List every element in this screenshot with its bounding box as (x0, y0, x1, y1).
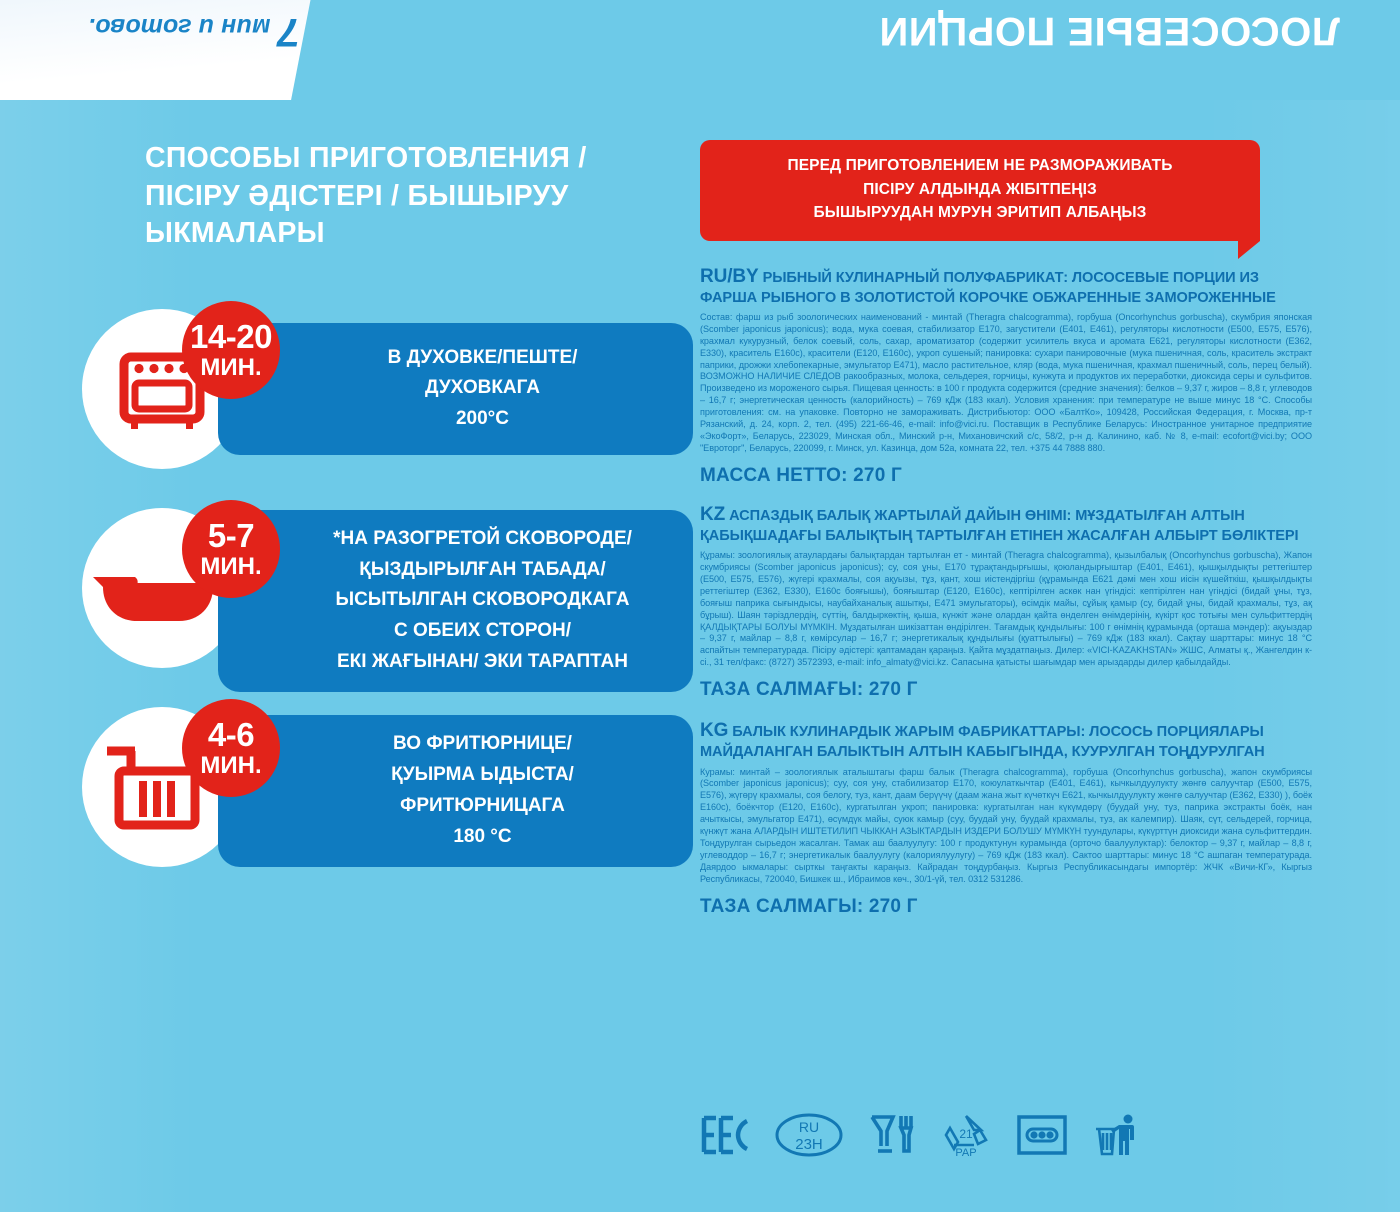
eac-mark-icon (700, 1115, 750, 1160)
package-back-panel: 7 мин и готово. ЛОСОСЕВЫЕ ПОРЦИИ СПОСОБЫ… (0, 0, 1400, 1212)
cooking-time-unit: МИН. (200, 555, 261, 579)
cooking-time-value: 5-7 (208, 519, 254, 552)
cooking-methods-section: СПОСОБЫ ПРИГОТОВЛЕНИЯ / ПІСІРУ ӘДІСТЕРІ … (60, 140, 700, 884)
cooking-method-text-deep-fryer: ВО ФРИТЮРНИЦЕ/ ҚУЫРМА ЫДЫСТА/ ФРИТЮРНИЦА… (218, 715, 693, 867)
cooking-method-pan: 5-7 МИН. *НА РАЗОГРЕТОЙ СКОВОРОДЕ/ ҚЫЗДЫ… (60, 500, 700, 685)
cooking-method-text-oven: В ДУХОВКЕ/ПЕШТЕ/ ДУХОВКАГА 200°C (218, 323, 693, 455)
cooking-time-badge: 5-7 МИН. (182, 500, 280, 598)
product-name-kz: АСПАЗДЫҚ БАЛЫҚ ЖАРТЫЛАЙ ДАЙЫН ӨНІМІ: МҰЗ… (700, 508, 1299, 544)
product-heading-ru: RU/BY РЫБНЫЙ КУЛИНАРНЫЙ ПОЛУФАБРИКАТ: ЛО… (700, 265, 1312, 307)
net-weight-kz: ТАЗА САЛМАҒЫ: 270 Г (700, 679, 1312, 701)
flap-left-slogan: 7 мин и готово. (64, 12, 324, 52)
cooking-time-unit: МИН. (200, 356, 261, 380)
panel-body: СПОСОБЫ ПРИГОТОВЛЕНИЯ / ПІСІРУ ӘДІСТЕРІ … (0, 100, 1400, 1212)
cooking-method-text-pan: *НА РАЗОГРЕТОЙ СКОВОРОДЕ/ ҚЫЗДЫРЫЛҒАН ТА… (218, 510, 693, 692)
ingredients-text-ru: Состав: фарш из рыб зоологических наимен… (700, 312, 1312, 455)
cooking-time-value: 14-20 (190, 320, 272, 353)
ingredients-text-kg: Курамы: минтай – зоологиялык аталыштагы … (700, 767, 1312, 886)
ingredients-text-kz: Құрамы: зоологиялық атаулардағы балықтар… (700, 550, 1312, 669)
net-weight-ru: МАССА НЕТТО: 270 Г (700, 465, 1312, 487)
language-code-kz: KZ (700, 504, 725, 525)
cooking-methods-title-line2: ПІСІРУ ӘДІСТЕРІ / БЫШЫРУУ ЫКМАЛАРЫ (145, 178, 700, 253)
product-name-kg: БАЛЫК КУЛИНАРДЫК ЖАРЫМ ФАБРИКАТТАРЫ: ЛОС… (700, 724, 1265, 760)
product-heading-kg: KG БАЛЫК КУЛИНАРДЫК ЖАРЫМ ФАБРИКАТТАРЫ: … (700, 719, 1312, 761)
product-heading-kz: KZ АСПАЗДЫҚ БАЛЫҚ ЖАРТЫЛАЙ ДАЙЫН ӨНІМІ: … (700, 503, 1312, 545)
cooking-time-unit: МИН. (200, 754, 261, 778)
top-flap-right: ЛОСОСЕВЫЕ ПОРЦИИ (360, 0, 1400, 108)
cooking-methods-title: СПОСОБЫ ПРИГОТОВЛЕНИЯ / ПІСІРУ ӘДІСТЕРІ … (60, 140, 700, 253)
keep-clean-bin-icon (1092, 1113, 1140, 1162)
language-block-kg: KG БАЛЫК КУЛИНАРДЫК ЖАРЫМ ФАБРИКАТТАРЫ: … (700, 719, 1312, 917)
net-weight-kg: ТАЗА САЛМАГЫ: 270 Г (700, 896, 1312, 918)
cooking-method-deep-fryer: 4-6 МИН. ВО ФРИТЮРНИЦЕ/ ҚУЫРМА ЫДЫСТА/ Ф… (60, 699, 700, 884)
language-code-kg: KG (700, 720, 728, 741)
product-name-ru: РЫБНЫЙ КУЛИНАРНЫЙ ПОЛУФАБРИКАТ: ЛОСОСЕВЫ… (700, 270, 1276, 306)
language-block-ru-by: RU/BY РЫБНЫЙ КУЛИНАРНЫЙ ПОЛУФАБРИКАТ: ЛО… (700, 265, 1312, 487)
pap-21-recycling-icon: 21 PAP (940, 1112, 992, 1163)
cooking-methods-title-line1: СПОСОБЫ ПРИГОТОВЛЕНИЯ / (145, 140, 700, 178)
cooking-method-oven: 14-20 МИН. В ДУХОВКЕ/ПЕШТЕ/ ДУХОВКАГА 20… (60, 301, 700, 486)
certification-marks-strip: RU 23H (700, 1112, 1140, 1163)
portions-box-icon (1016, 1114, 1068, 1161)
language-code-ru: RU/BY (700, 266, 759, 287)
svg-text:21: 21 (959, 1127, 973, 1141)
do-not-defrost-warning-banner: ПЕРЕД ПРИГОТОВЛЕНИЕМ НЕ РАЗМОРАЖИВАТЬ ПІ… (700, 140, 1260, 241)
flap-left-slogan-number: 7 (278, 10, 300, 54)
food-safe-glass-fork-icon (868, 1113, 916, 1162)
cooking-time-badge: 4-6 МИН. (182, 699, 280, 797)
flap-right-product-name: ЛОСОСЕВЫЕ ПОРЦИИ (879, 10, 1340, 52)
svg-text:PAP: PAP (955, 1147, 976, 1158)
cooking-time-value: 4-6 (208, 718, 254, 751)
svg-text:RU: RU (799, 1119, 819, 1135)
product-information-section: ПЕРЕД ПРИГОТОВЛЕНИЕМ НЕ РАЗМОРАЖИВАТЬ ПІ… (700, 140, 1312, 918)
cooking-time-badge: 14-20 МИН. (182, 301, 280, 399)
flap-left-slogan-text: мин и готово. (88, 13, 270, 41)
ru-23h-mark-icon: RU 23H (774, 1112, 844, 1163)
svg-text:23H: 23H (795, 1136, 823, 1153)
language-block-kz: KZ АСПАЗДЫҚ БАЛЫҚ ЖАРТЫЛАЙ ДАЙЫН ӨНІМІ: … (700, 503, 1312, 701)
